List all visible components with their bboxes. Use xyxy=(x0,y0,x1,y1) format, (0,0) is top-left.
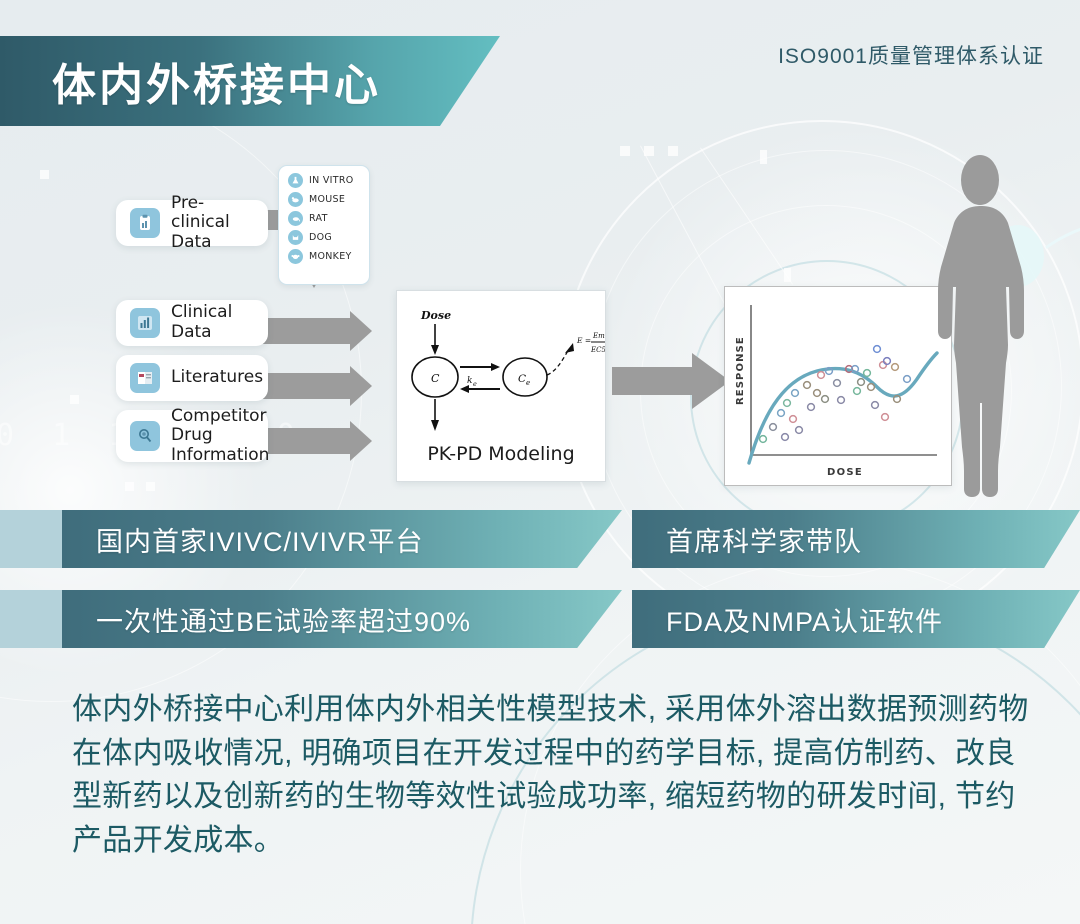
poster-root: 0 1 1 0 1 0 体内外桥接中心 ISO9001质量管理体系认证 Pre-… xyxy=(0,0,1080,924)
svg-text:EC50 + Ce: EC50 + Ce xyxy=(590,346,605,354)
svg-text:Emax·Ce: Emax·Ce xyxy=(592,332,605,340)
bar-chart-icon xyxy=(130,308,160,338)
svg-text:Dose: Dose xyxy=(420,309,451,322)
species-label: RAT xyxy=(309,213,328,224)
arrow-head-icon xyxy=(350,421,372,461)
svg-text:C: C xyxy=(518,373,526,385)
dog-icon xyxy=(288,230,303,245)
flask-icon xyxy=(288,173,303,188)
feature-bar-label: 首席科学家带队 xyxy=(666,520,862,559)
chart-xlabel: DOSE xyxy=(827,467,863,478)
source-box-competitor-drug-information[interactable]: Competitor Drug Information xyxy=(116,410,268,462)
species-label: MOUSE xyxy=(309,194,345,205)
pkpd-schematic: Dose C k e C e E = Emax·Ce xyxy=(397,297,605,447)
bar-accent-stub xyxy=(0,590,62,648)
book-icon xyxy=(130,363,160,393)
species-item[interactable]: MOUSE xyxy=(288,192,369,207)
magnifier-pill-icon xyxy=(130,421,160,451)
rat-icon xyxy=(288,211,303,226)
species-item[interactable]: IN VITRO xyxy=(288,173,369,188)
svg-text:E =: E = xyxy=(576,336,591,345)
source-label: Competitor Drug Information xyxy=(171,407,269,466)
pkpd-caption: PK-PD Modeling xyxy=(397,443,605,465)
title-banner: 体内外桥接中心 xyxy=(0,36,500,126)
species-label: IN VITRO xyxy=(309,175,354,186)
feature-bar-1[interactable]: 国内首家IVIVC/IVIVR平台 xyxy=(62,510,622,568)
species-item[interactable]: RAT xyxy=(288,211,369,226)
human-silhouette-icon xyxy=(906,150,1054,502)
mouse-icon xyxy=(288,192,303,207)
species-list-card: IN VITRO MOUSE RAT DOG MONKEY xyxy=(278,165,370,285)
species-label: DOG xyxy=(309,232,332,243)
species-item[interactable]: DOG xyxy=(288,230,369,245)
source-box-clinical-data[interactable]: Clinical Data xyxy=(116,300,268,346)
feature-bar-label: FDA及NMPA认证软件 xyxy=(666,600,943,639)
arrow-model-to-chart xyxy=(612,353,732,409)
feature-bar-label: 国内首家IVIVC/IVIVR平台 xyxy=(96,520,424,559)
clipboard-icon xyxy=(130,208,160,238)
certification-label: ISO9001质量管理体系认证 xyxy=(778,40,1044,70)
description-paragraph: 体内外桥接中心利用体内外相关性模型技术, 采用体外溶出数据预测药物在体内吸收情况… xyxy=(72,688,1034,862)
species-item[interactable]: MONKEY xyxy=(288,249,369,264)
feature-bar-4[interactable]: FDA及NMPA认证软件 xyxy=(632,590,1080,648)
source-box-literatures[interactable]: Literatures xyxy=(116,355,268,401)
source-label: Literatures xyxy=(171,368,263,388)
feature-bar-2[interactable]: 首席科学家带队 xyxy=(632,510,1080,568)
arrow-head-icon xyxy=(350,366,372,406)
source-label: Pre-clinical Data xyxy=(171,194,254,253)
pkpd-model-panel: Dose C k e C e E = Emax·Ce xyxy=(396,290,606,482)
monkey-icon xyxy=(288,249,303,264)
chart-ylabel: RESPONSE xyxy=(735,336,746,405)
feature-bar-label: 一次性通过BE试验率超过90% xyxy=(96,600,471,639)
svg-text:k: k xyxy=(467,376,472,386)
source-label: Clinical Data xyxy=(171,303,254,342)
source-box-pre-clinical-data[interactable]: Pre-clinical Data xyxy=(116,200,268,246)
workflow-diagram: Pre-clinical Data Clinical Data Literatu… xyxy=(0,140,1080,500)
svg-text:e: e xyxy=(526,379,530,387)
svg-text:e: e xyxy=(473,380,477,388)
feature-bar-3[interactable]: 一次性通过BE试验率超过90% xyxy=(62,590,622,648)
feature-bars: 国内首家IVIVC/IVIVR平台 首席科学家带队 一次性通过BE试验率超过90… xyxy=(0,510,1080,650)
page-title: 体内外桥接中心 xyxy=(52,49,381,113)
bar-accent-stub xyxy=(0,510,62,568)
species-label: MONKEY xyxy=(309,251,352,262)
svg-text:C: C xyxy=(431,372,440,385)
